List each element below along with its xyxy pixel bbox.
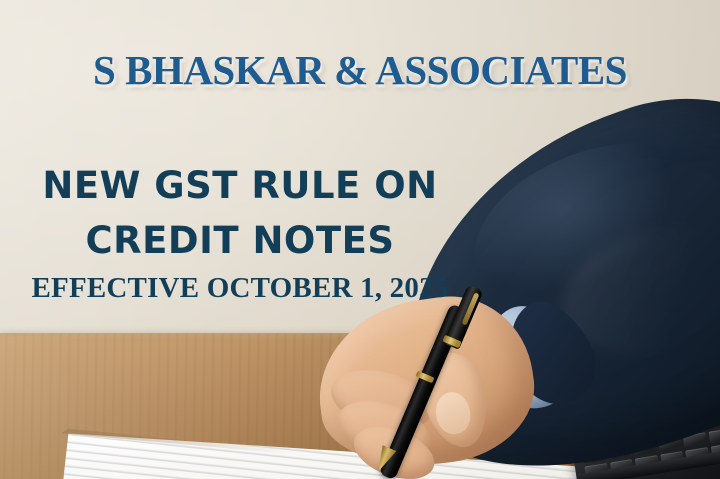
calculator-key [708,428,720,444]
gst-announcement-poster: S BHASKAR & ASSOCIATES NEW GST RULE ON C… [0,0,720,479]
headline: NEW GST RULE ON CREDIT NOTES [14,158,466,268]
firm-name-title: S BHASKAR & ASSOCIATES [0,46,720,94]
headline-line-2: CREDIT NOTES [14,213,466,268]
headline-line-1: NEW GST RULE ON [14,158,466,213]
effective-date-subheading: EFFECTIVE OCTOBER 1, 2025 [14,272,466,305]
